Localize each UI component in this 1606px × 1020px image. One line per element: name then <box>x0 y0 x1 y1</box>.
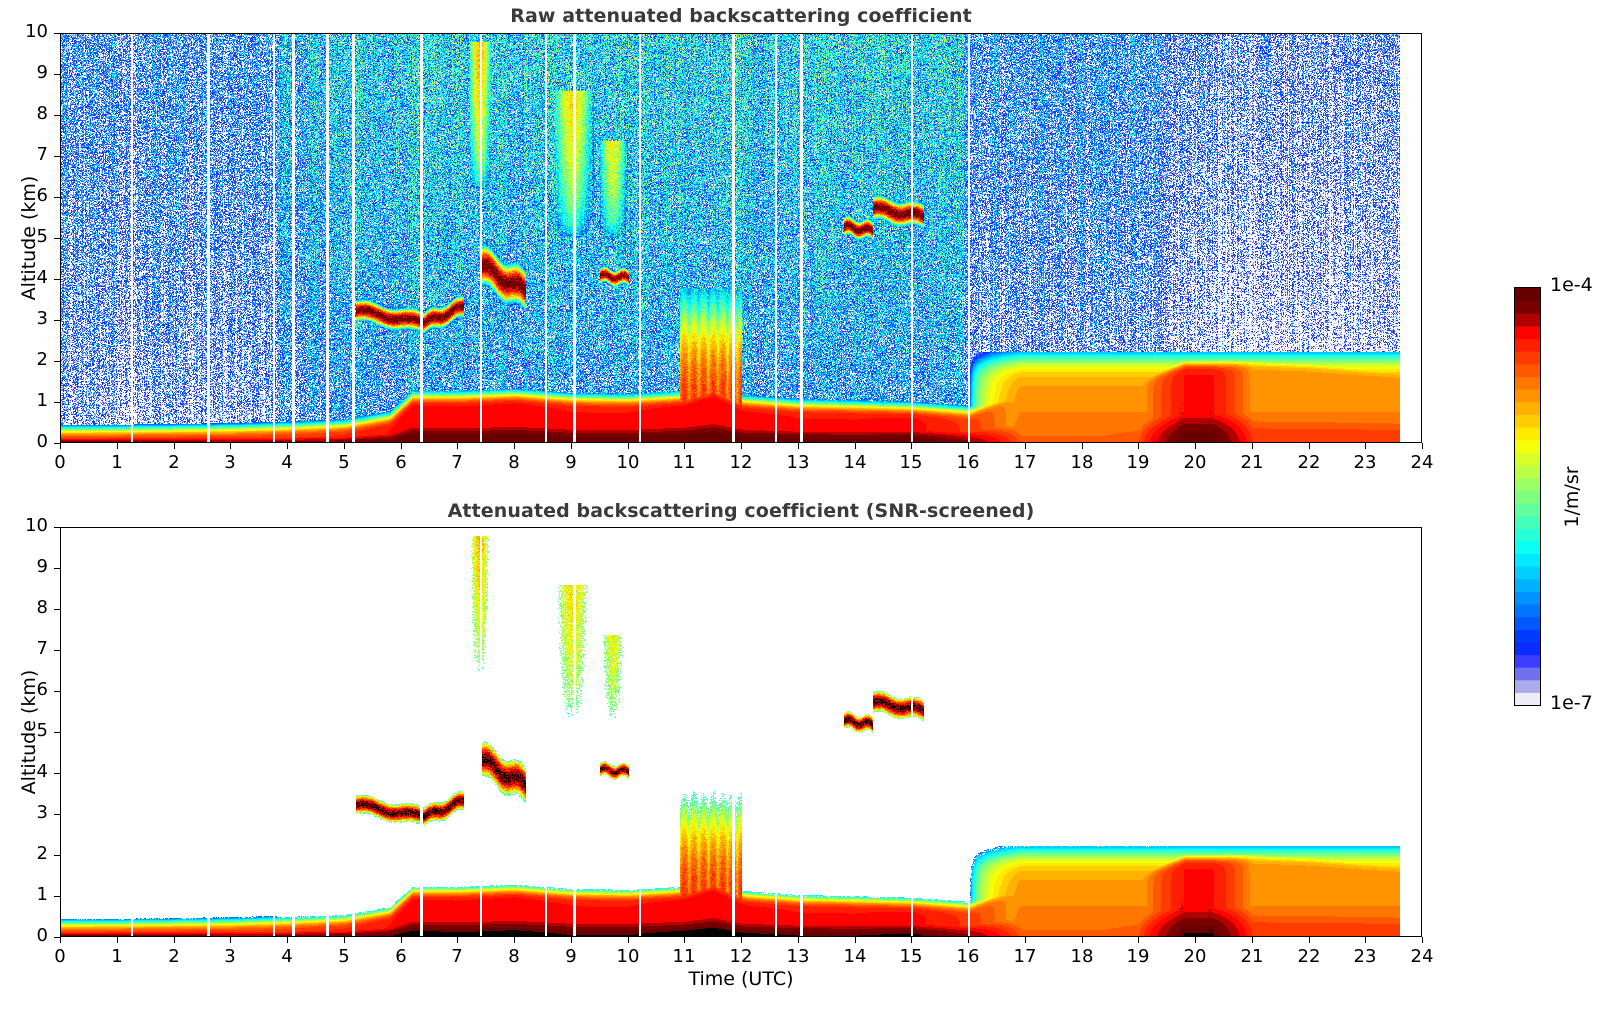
x-tick-raw-12 <box>741 443 742 449</box>
y-tick-label-snr-6: 6 <box>4 679 48 700</box>
x-tick-label-snr-8: 8 <box>484 946 544 967</box>
x-tick-label-snr-12: 12 <box>711 946 771 967</box>
y-tick-label-raw-6: 6 <box>4 185 48 206</box>
x-tick-label-snr-3: 3 <box>200 946 260 967</box>
x-tick-snr-0 <box>60 937 61 943</box>
y-tick-snr-3 <box>54 814 60 815</box>
x-tick-label-raw-24: 24 <box>1392 452 1452 473</box>
x-tick-label-snr-2: 2 <box>144 946 204 967</box>
y-tick-snr-6 <box>54 691 60 692</box>
x-tick-label-snr-23: 23 <box>1335 946 1395 967</box>
y-tick-raw-2 <box>54 361 60 362</box>
x-tick-snr-19 <box>1138 937 1139 943</box>
y-tick-snr-1 <box>54 896 60 897</box>
y-tick-raw-1 <box>54 402 60 403</box>
x-tick-raw-13 <box>798 443 799 449</box>
x-tick-label-raw-3: 3 <box>200 452 260 473</box>
x-tick-label-snr-15: 15 <box>881 946 941 967</box>
x-tick-label-snr-11: 11 <box>654 946 714 967</box>
x-tick-raw-5 <box>344 443 345 449</box>
y-tick-raw-8 <box>54 115 60 116</box>
panel-raw-plot-area[interactable] <box>60 33 1422 443</box>
x-tick-snr-16 <box>968 937 969 943</box>
x-tick-raw-3 <box>230 443 231 449</box>
y-tick-label-raw-9: 9 <box>4 62 48 83</box>
y-tick-raw-4 <box>54 279 60 280</box>
x-tick-snr-14 <box>855 937 856 943</box>
x-tick-label-raw-14: 14 <box>825 452 885 473</box>
y-tick-label-raw-4: 4 <box>4 267 48 288</box>
x-tick-label-snr-19: 19 <box>1108 946 1168 967</box>
x-tick-label-snr-6: 6 <box>371 946 431 967</box>
x-tick-label-raw-4: 4 <box>257 452 317 473</box>
x-tick-snr-2 <box>174 937 175 943</box>
x-tick-label-raw-17: 17 <box>995 452 1055 473</box>
x-tick-label-raw-7: 7 <box>427 452 487 473</box>
x-tick-raw-24 <box>1422 443 1423 449</box>
x-tick-raw-10 <box>628 443 629 449</box>
y-tick-raw-6 <box>54 197 60 198</box>
colorbar-gradient[interactable] <box>1514 287 1541 706</box>
y-tick-label-snr-8: 8 <box>4 597 48 618</box>
x-tick-snr-24 <box>1422 937 1423 943</box>
x-tick-label-snr-14: 14 <box>825 946 885 967</box>
x-tick-label-snr-24: 24 <box>1392 946 1452 967</box>
x-tick-label-raw-13: 13 <box>768 452 828 473</box>
y-tick-label-raw-0: 0 <box>4 431 48 452</box>
x-tick-label-raw-10: 10 <box>598 452 658 473</box>
y-tick-snr-10 <box>54 527 60 528</box>
y-tick-snr-2 <box>54 855 60 856</box>
x-tick-raw-1 <box>117 443 118 449</box>
y-tick-snr-7 <box>54 650 60 651</box>
x-tick-snr-23 <box>1365 937 1366 943</box>
x-tick-snr-4 <box>287 937 288 943</box>
panel-snr-plot-area[interactable] <box>60 527 1422 937</box>
x-tick-label-snr-5: 5 <box>314 946 374 967</box>
x-tick-label-raw-5: 5 <box>314 452 374 473</box>
x-tick-label-snr-17: 17 <box>995 946 1055 967</box>
x-tick-label-snr-10: 10 <box>598 946 658 967</box>
x-tick-label-raw-1: 1 <box>87 452 147 473</box>
y-tick-raw-9 <box>54 74 60 75</box>
x-tick-snr-11 <box>684 937 685 943</box>
x-tick-snr-18 <box>1082 937 1083 943</box>
y-tick-raw-3 <box>54 320 60 321</box>
x-tick-raw-2 <box>174 443 175 449</box>
x-tick-snr-10 <box>628 937 629 943</box>
y-tick-label-snr-10: 10 <box>4 515 48 536</box>
y-tick-label-snr-7: 7 <box>4 638 48 659</box>
y-tick-label-snr-1: 1 <box>4 884 48 905</box>
y-tick-label-snr-4: 4 <box>4 761 48 782</box>
x-tick-snr-17 <box>1025 937 1026 943</box>
x-tick-raw-9 <box>571 443 572 449</box>
x-tick-raw-21 <box>1252 443 1253 449</box>
x-tick-raw-22 <box>1309 443 1310 449</box>
x-tick-raw-15 <box>911 443 912 449</box>
y-tick-label-raw-5: 5 <box>4 226 48 247</box>
y-tick-label-raw-10: 10 <box>4 21 48 42</box>
y-tick-label-raw-7: 7 <box>4 144 48 165</box>
x-tick-snr-13 <box>798 937 799 943</box>
x-tick-raw-16 <box>968 443 969 449</box>
x-tick-raw-23 <box>1365 443 1366 449</box>
x-tick-label-snr-16: 16 <box>938 946 998 967</box>
x-tick-label-raw-20: 20 <box>1165 452 1225 473</box>
panel-snr-heatmap <box>61 528 1422 937</box>
colorbar-canvas <box>1515 288 1540 705</box>
x-tick-snr-6 <box>401 937 402 943</box>
x-tick-snr-20 <box>1195 937 1196 943</box>
y-tick-label-raw-3: 3 <box>4 308 48 329</box>
x-tick-snr-22 <box>1309 937 1310 943</box>
y-tick-snr-9 <box>54 568 60 569</box>
x-tick-label-raw-16: 16 <box>938 452 998 473</box>
x-tick-label-snr-9: 9 <box>541 946 601 967</box>
x-tick-label-raw-18: 18 <box>1052 452 1112 473</box>
x-tick-label-raw-8: 8 <box>484 452 544 473</box>
y-tick-label-snr-5: 5 <box>4 720 48 741</box>
x-tick-label-raw-21: 21 <box>1222 452 1282 473</box>
x-tick-snr-5 <box>344 937 345 943</box>
y-tick-raw-5 <box>54 238 60 239</box>
x-tick-label-raw-22: 22 <box>1279 452 1339 473</box>
x-tick-snr-1 <box>117 937 118 943</box>
y-tick-snr-5 <box>54 732 60 733</box>
colorbar-max-tick-label: 1e-4 <box>1550 274 1593 296</box>
panel-snr-x-axis-label: Time (UTC) <box>60 968 1422 990</box>
x-tick-raw-0 <box>60 443 61 449</box>
x-tick-label-snr-0: 0 <box>30 946 90 967</box>
y-tick-raw-10 <box>54 33 60 34</box>
colorbar-min-tick-label: 1e-7 <box>1550 692 1593 714</box>
x-tick-raw-8 <box>514 443 515 449</box>
panel-raw-title: Raw attenuated backscattering coefficien… <box>60 5 1422 27</box>
x-tick-snr-8 <box>514 937 515 943</box>
panel-snr-title: Attenuated backscattering coefficient (S… <box>60 500 1422 522</box>
x-tick-raw-6 <box>401 443 402 449</box>
x-tick-raw-17 <box>1025 443 1026 449</box>
y-tick-label-snr-3: 3 <box>4 802 48 823</box>
x-tick-label-snr-13: 13 <box>768 946 828 967</box>
x-tick-label-snr-20: 20 <box>1165 946 1225 967</box>
x-tick-label-snr-18: 18 <box>1052 946 1112 967</box>
x-tick-label-snr-4: 4 <box>257 946 317 967</box>
x-tick-label-raw-19: 19 <box>1108 452 1168 473</box>
y-tick-snr-4 <box>54 773 60 774</box>
y-tick-label-raw-1: 1 <box>4 390 48 411</box>
x-tick-raw-11 <box>684 443 685 449</box>
x-tick-label-snr-7: 7 <box>427 946 487 967</box>
x-tick-label-snr-1: 1 <box>87 946 147 967</box>
x-tick-raw-14 <box>855 443 856 449</box>
x-tick-raw-20 <box>1195 443 1196 449</box>
x-tick-label-snr-21: 21 <box>1222 946 1282 967</box>
x-tick-label-raw-12: 12 <box>711 452 771 473</box>
panel-raw-heatmap <box>61 34 1422 443</box>
x-tick-snr-9 <box>571 937 572 943</box>
y-tick-raw-7 <box>54 156 60 157</box>
x-tick-label-raw-0: 0 <box>30 452 90 473</box>
y-tick-label-snr-2: 2 <box>4 843 48 864</box>
y-tick-label-raw-2: 2 <box>4 349 48 370</box>
x-tick-label-raw-11: 11 <box>654 452 714 473</box>
y-tick-label-raw-8: 8 <box>4 103 48 124</box>
x-tick-raw-4 <box>287 443 288 449</box>
x-tick-label-raw-2: 2 <box>144 452 204 473</box>
colorbar-axis-label: 1/m/sr <box>1559 397 1585 597</box>
x-tick-snr-15 <box>911 937 912 943</box>
y-tick-snr-0 <box>54 937 60 938</box>
x-tick-label-snr-22: 22 <box>1279 946 1339 967</box>
y-tick-label-snr-0: 0 <box>4 925 48 946</box>
x-tick-label-raw-15: 15 <box>881 452 941 473</box>
x-tick-raw-18 <box>1082 443 1083 449</box>
x-tick-snr-12 <box>741 937 742 943</box>
y-tick-snr-8 <box>54 609 60 610</box>
x-tick-snr-7 <box>457 937 458 943</box>
y-tick-raw-0 <box>54 443 60 444</box>
x-tick-label-raw-23: 23 <box>1335 452 1395 473</box>
x-tick-label-raw-9: 9 <box>541 452 601 473</box>
x-tick-raw-7 <box>457 443 458 449</box>
x-tick-raw-19 <box>1138 443 1139 449</box>
x-tick-label-raw-6: 6 <box>371 452 431 473</box>
x-tick-snr-3 <box>230 937 231 943</box>
y-tick-label-snr-9: 9 <box>4 556 48 577</box>
x-tick-snr-21 <box>1252 937 1253 943</box>
